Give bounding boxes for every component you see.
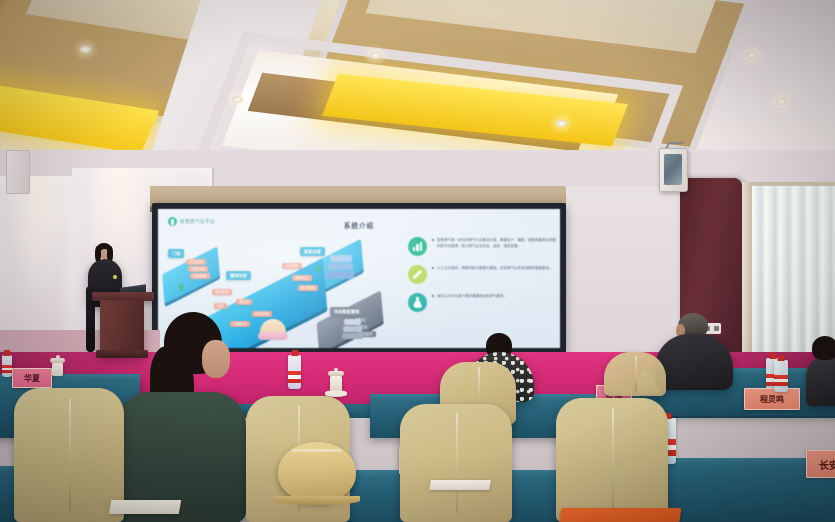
podium	[100, 300, 144, 356]
diagram-tag: 泄漏检测	[230, 321, 250, 327]
nameplate: 华夏	[12, 368, 52, 388]
downlight-icon	[232, 96, 243, 103]
conference-room-photo: 智慧燃气云平台 系统介绍 门站 管网布控 智能运营 场站智能管理 压力监测 流量…	[0, 0, 835, 522]
diagram-tag: 管网监测	[212, 289, 232, 295]
downlight-icon	[370, 52, 381, 59]
diagram-tag: 巡检终端	[252, 311, 272, 317]
downlight-icon	[776, 98, 787, 105]
slide-bullet-row: 依托云平台为用户提供便捷安全的用气服务。	[408, 293, 556, 312]
diagram-section-label-0: 门站	[168, 249, 184, 258]
water-bottle	[774, 360, 788, 392]
wall-wash-light	[6, 176, 70, 296]
orange-folder	[559, 508, 682, 522]
diagram-tag: 压力监测	[186, 259, 206, 265]
attendee-far-right-body	[806, 356, 835, 406]
map-pin-icon	[178, 285, 184, 292]
slide-bullet-list: 智慧燃气是一体化的燃气行业解决方案，覆盖生产、输配、销售和服务全流程的数字化管理…	[408, 237, 556, 321]
slide-bullet-text: 智慧燃气是一体化的燃气行业解决方案，覆盖生产、输配、销售和服务全流程的数字化管理…	[433, 237, 556, 249]
downlight-icon	[80, 46, 91, 53]
chair-cover	[556, 398, 668, 522]
teacup	[52, 362, 63, 376]
diagram-tag: 数据中心	[292, 275, 312, 281]
diagram-tag: 流量计量	[188, 266, 208, 272]
diagram-tag: 阀室	[214, 303, 227, 309]
building-icon	[344, 319, 363, 339]
chair-cover	[604, 352, 666, 396]
teacup	[330, 375, 342, 391]
diagram-tag: 运营调度	[282, 263, 302, 269]
diagram-section-label-1: 管网布控	[226, 271, 251, 280]
nameplate: 程灵鸣	[744, 388, 800, 410]
downlight-icon	[556, 120, 567, 127]
paper-sheet	[429, 480, 491, 490]
chair-cover	[14, 388, 124, 522]
podium-base	[96, 350, 148, 358]
nameplate: 长安	[806, 450, 835, 478]
diagram-section-label-2: 智能运营	[300, 247, 325, 256]
wall-speaker-right	[659, 148, 688, 192]
diagram-section-label-3: 场站智能管理	[330, 307, 363, 316]
water-bottle	[2, 355, 12, 377]
chair-cover	[400, 404, 512, 522]
slide-bullet-row: 以工业互联网、物联网和大数据为基础，实现燃气业务全流程的智能联动。	[408, 265, 556, 284]
attendee-right-body	[655, 334, 733, 390]
gas-tank-base-icon	[258, 332, 288, 340]
wall-speaker	[6, 150, 30, 194]
diagram-tag: 调压站	[236, 299, 252, 305]
attendee-front-right-head	[676, 310, 710, 340]
flask-icon	[408, 293, 427, 312]
slide-bullet-text: 以工业互联网、物联网和大数据为基础，实现燃气业务全流程的智能联动。	[433, 265, 553, 271]
diagram-tag: 安全报警	[190, 273, 210, 279]
paper-sheet	[109, 500, 181, 514]
speaker-grille-icon	[664, 154, 682, 185]
slide-bullet-text: 依托云平台为用户提供便捷安全的用气服务。	[433, 293, 507, 299]
slide-bullet-row: 智慧燃气是一体化的燃气行业解决方案，覆盖生产、输配、销售和服务全流程的数字化管理…	[408, 237, 556, 256]
map-pin-icon	[316, 267, 322, 274]
diagram-tag: 客户服务	[298, 285, 318, 291]
attendee-far-right-head	[812, 336, 835, 360]
slide-title: 系统介绍	[158, 220, 560, 230]
presenter-badge	[113, 275, 117, 279]
water-bottle	[288, 355, 301, 389]
bar-chart-icon	[408, 237, 427, 256]
downlight-icon	[746, 52, 757, 59]
server-tower-icon	[330, 255, 354, 279]
pen-icon	[408, 265, 427, 284]
safety-helmet	[278, 442, 356, 502]
